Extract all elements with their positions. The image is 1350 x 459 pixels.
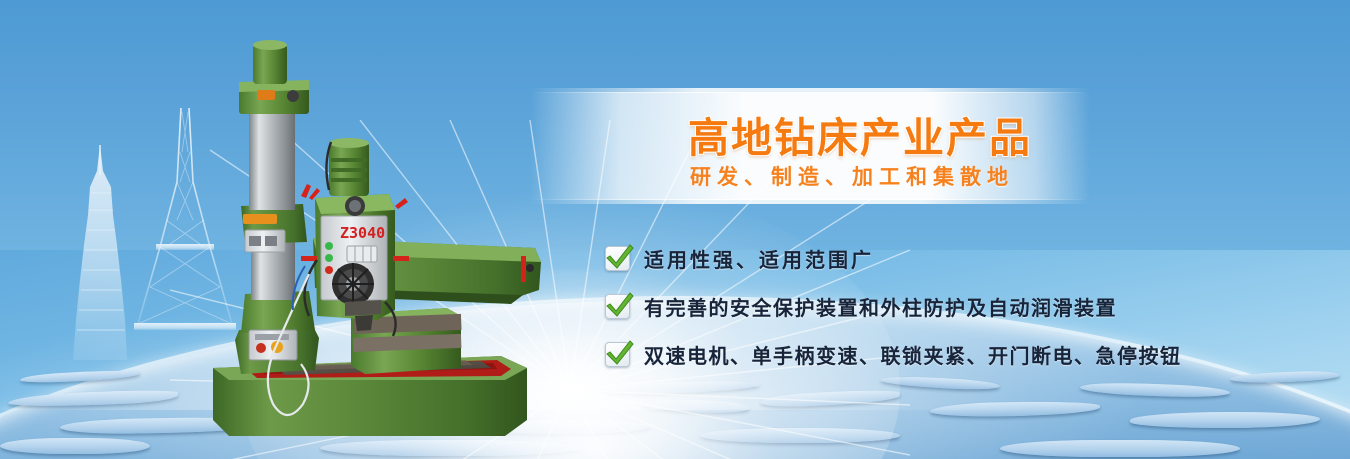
feature-text: 双速电机、单手柄变速、联锁夹紧、开门断电、急停按钮 xyxy=(644,340,1182,369)
feature-item: 双速电机、单手柄变速、联锁夹紧、开门断电、急停按钮 xyxy=(605,330,1305,378)
feature-text: 适用性强、适用范围广 xyxy=(644,244,874,273)
check-icon xyxy=(605,342,630,367)
radial-drilling-machine-image: Z3040 xyxy=(205,38,555,440)
feature-item: 适用性强、适用范围广 xyxy=(605,234,1305,282)
feature-text: 有完善的安全保护装置和外柱防护及自动润滑装置 xyxy=(644,292,1117,321)
check-icon xyxy=(605,294,630,319)
feature-item: 有完善的安全保护装置和外柱防护及自动润滑装置 xyxy=(605,282,1305,330)
banner-title: 高地钻床产业产品 xyxy=(688,104,1108,164)
promo-banner: Z3040 xyxy=(0,0,1350,459)
banner-subtitle: 研发、制造、加工和集散地 xyxy=(690,161,1090,191)
machine-model-label: Z3040 xyxy=(340,224,385,242)
feature-list: 适用性强、适用范围广 有完善的安全保护装置和外柱防护及自动润滑装置 双速电机、单… xyxy=(605,234,1305,378)
check-icon xyxy=(605,246,630,271)
